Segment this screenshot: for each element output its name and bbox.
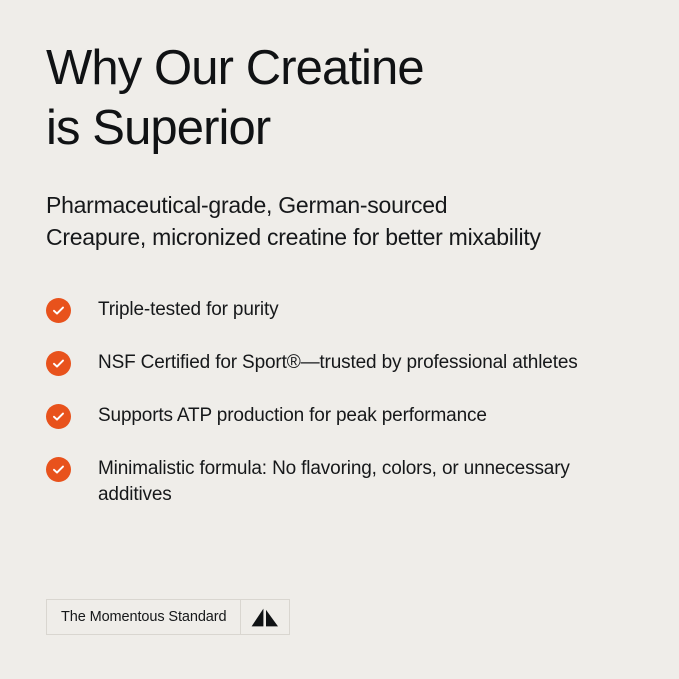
benefit-label: Minimalistic formula: No flavoring, colo… bbox=[71, 456, 618, 508]
momentous-mountain-logo-icon bbox=[240, 600, 289, 634]
benefits-list: Triple-tested for purity NSF Certified f… bbox=[46, 253, 633, 508]
page-subtitle: Pharmaceutical-grade, German-sourced Cre… bbox=[46, 158, 633, 253]
momentous-standard-badge: The Momentous Standard bbox=[46, 599, 290, 635]
check-circle-icon bbox=[46, 298, 71, 323]
benefit-label: Triple-tested for purity bbox=[71, 297, 278, 323]
check-circle-icon bbox=[46, 404, 71, 429]
list-item: Supports ATP production for peak perform… bbox=[46, 403, 633, 429]
page-title: Why Our Creatine is Superior bbox=[46, 0, 633, 158]
benefit-label: Supports ATP production for peak perform… bbox=[71, 403, 487, 429]
list-item: Triple-tested for purity bbox=[46, 297, 633, 323]
momentous-standard-label: The Momentous Standard bbox=[47, 600, 240, 634]
benefit-label: NSF Certified for Sport®—trusted by prof… bbox=[71, 350, 578, 376]
list-item: NSF Certified for Sport®—trusted by prof… bbox=[46, 350, 633, 376]
list-item: Minimalistic formula: No flavoring, colo… bbox=[46, 456, 633, 508]
check-circle-icon bbox=[46, 351, 71, 376]
check-circle-icon bbox=[46, 457, 71, 482]
creatine-benefits-card: Why Our Creatine is Superior Pharmaceuti… bbox=[0, 0, 679, 679]
